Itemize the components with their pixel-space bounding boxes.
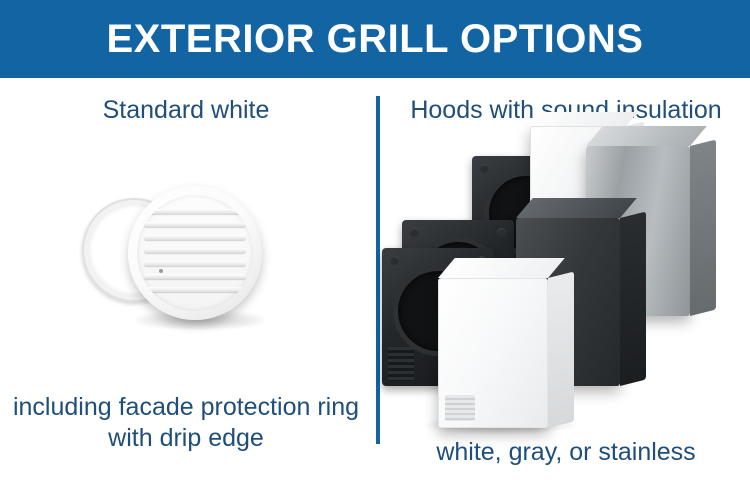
white-hood-front (438, 278, 548, 428)
round-grille-body (128, 186, 262, 320)
left-heading: Standard white (0, 96, 372, 126)
header-banner: EXTERIOR GRILL OPTIONS (0, 0, 750, 78)
poster-root: EXTERIOR GRILL OPTIONS Standard white (0, 0, 750, 500)
hood-side-face (548, 272, 574, 428)
right-caption: white, gray, or stainless (382, 438, 750, 468)
hood-top-face (438, 258, 565, 278)
round-white-grille-illustration (82, 186, 282, 351)
page-title: EXTERIOR GRILL OPTIONS (107, 19, 644, 59)
hood-top-face (516, 198, 637, 218)
hood-side-face (690, 140, 716, 316)
frame-vent-grid (388, 347, 414, 381)
hood-top-face (586, 126, 707, 146)
grille-louvers (137, 195, 253, 311)
sound-insulated-hoods-illustration (380, 120, 748, 430)
round-grille-face (137, 195, 253, 311)
grille-screw-dot (159, 269, 163, 273)
hood-front-face (438, 278, 548, 428)
hood-vent-grid (445, 395, 475, 421)
hood-side-face (620, 212, 646, 386)
hood-top-face (530, 112, 638, 126)
left-caption: including facade protection ring with dr… (0, 392, 372, 453)
